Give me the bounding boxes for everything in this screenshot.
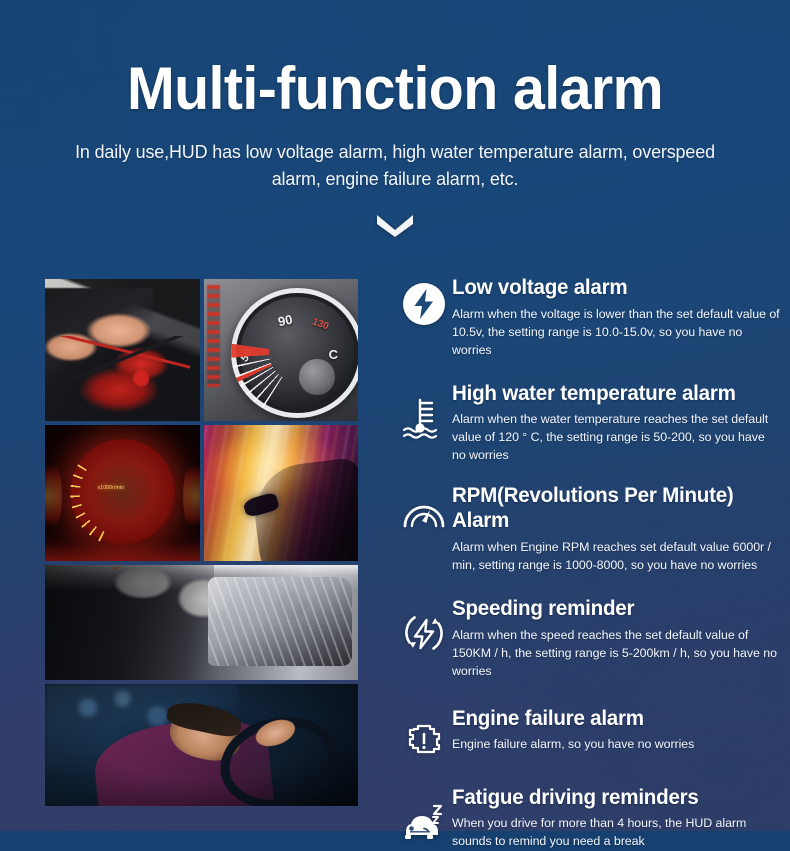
feature-text: Engine failure alarm Engine failure alar… [452,707,790,755]
feature-description: Alarm when the voltage is lower than the… [452,306,780,360]
feature-item-speeding: Speeding reminder Alarm when the speed r… [396,597,790,681]
feature-title: Speeding reminder [452,597,773,622]
feature-item-low-voltage: Low voltage alarm Alarm when the voltage… [396,276,790,360]
page-subtitle: In daily use,HUD has low voltage alarm, … [60,139,729,193]
gallery-row [45,565,358,680]
gauge-hub [299,359,335,396]
feature-description: Alarm when Engine RPM reaches set defaul… [452,539,780,575]
engine-shadow [45,565,214,680]
mechanic-testing-car-battery-photo [45,279,200,421]
photo-vignette [45,684,358,806]
feature-item-rpm: RPM(Revolutions Per Minute) Alarm Alarm … [396,484,790,575]
tach-side-gauge-left [45,458,62,534]
feature-text: RPM(Revolutions Per Minute) Alarm Alarm … [452,484,790,575]
feature-item-fatigue-driving: Fatigue driving reminders When you drive… [396,786,790,851]
feature-title: Fatigue driving reminders [452,786,773,811]
feature-title: Low voltage alarm [452,276,773,301]
page-header: Multi-function alarm In daily use,HUD ha… [0,0,790,237]
coolant-temperature-gauge-photo: 90 50 130 C [204,279,359,421]
feature-item-water-temperature: High water temperature alarm Alarm when … [396,382,790,466]
engine-bay-repair-photo [45,565,358,680]
sleeping-car-icon [396,786,452,846]
feature-text: High water temperature alarm Alarm when … [452,382,790,466]
speed-bolt-circle-icon [396,597,452,657]
tachometer-night-photo: x1000r/min [45,425,200,561]
lightning-bolt-circle-icon [396,276,452,328]
gauge-label-50: 50 [238,347,255,364]
engine-oil-cap [274,590,308,620]
gallery-row [45,684,358,806]
gauge-red-zone [207,285,221,387]
speeding-motion-blur-photo [204,425,359,561]
photo-gallery: 90 50 130 C x1000r/min [45,279,358,806]
feature-description: Alarm when the speed reaches the set def… [452,627,780,681]
feature-description: Alarm when the water temperature reaches… [452,411,780,465]
promo-page: Multi-function alarm In daily use,HUD ha… [0,0,790,831]
thermometer-water-icon [396,382,452,442]
side-mirror [242,491,280,517]
tach-unit-label: x1000r/min [98,485,125,491]
chevron-down-icon [0,211,790,237]
gallery-row: x1000r/min [45,425,358,561]
feature-description: When you drive for more than 4 hours, th… [452,815,780,851]
feature-title: RPM(Revolutions Per Minute) Alarm [452,484,773,534]
feature-list: Low voltage alarm Alarm when the voltage… [396,276,790,851]
fatigued-driver-photo [45,684,358,806]
page-title: Multi-function alarm [18,57,772,120]
tach-glow [45,526,200,561]
feature-title: High water temperature alarm [452,382,773,407]
feature-item-engine-failure: Engine failure alarm Engine failure alar… [396,707,790,763]
gauge-label-c: C [329,347,338,362]
gauge-label-90: 90 [276,312,293,330]
gallery-row: 90 50 130 C [45,279,358,421]
feature-text: Low voltage alarm Alarm when the voltage… [452,276,790,360]
feature-text: Speeding reminder Alarm when the speed r… [452,597,790,681]
tach-side-gauge-right [183,458,200,534]
check-engine-icon [396,707,452,763]
feature-text: Fatigue driving reminders When you drive… [452,786,790,851]
feature-title: Engine failure alarm [452,707,773,732]
feature-description: Engine failure alarm, so you have no wor… [452,736,780,754]
gauge-label-130: 130 [310,316,329,332]
gauge-rpm-icon [396,484,452,538]
